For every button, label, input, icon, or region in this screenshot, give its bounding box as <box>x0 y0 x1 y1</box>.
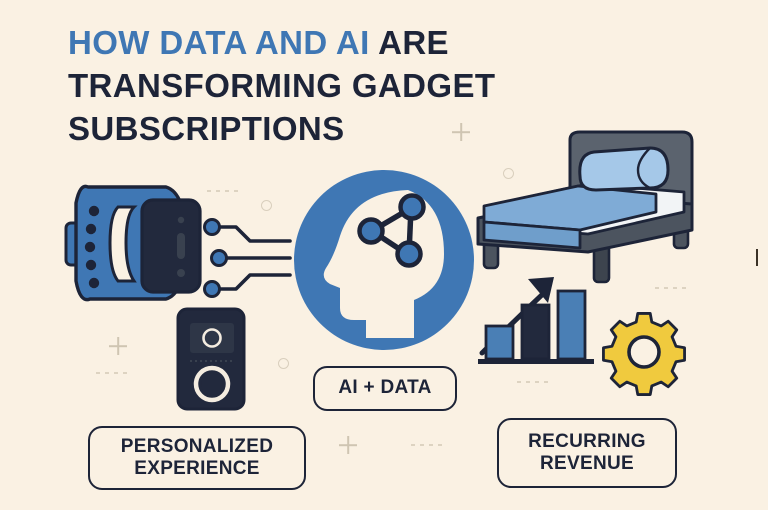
label-personalized-experience[interactable]: Personalized Experience <box>88 426 306 490</box>
infographic-canvas: HOW DATA AND AI ARE TRANSFORMING GADGET … <box>0 0 768 510</box>
dash-decoration-icon <box>655 287 686 289</box>
dash-decoration-icon <box>207 190 238 192</box>
label-ai-plus-data[interactable]: AI + Data <box>313 366 457 411</box>
title-line2: TRANSFORMING GADGET <box>68 67 495 104</box>
title-line1-rest: ARE <box>378 24 449 61</box>
dash-decoration-icon <box>517 381 548 383</box>
smart-doorbell-icon <box>172 305 258 413</box>
title-accent: HOW DATA AND AI <box>68 24 370 61</box>
ring-decoration-icon <box>503 168 514 179</box>
plus-decoration-icon <box>452 123 470 141</box>
plus-decoration-icon <box>339 436 357 454</box>
ring-decoration-icon <box>261 200 272 211</box>
smartwatch-icon <box>58 165 208 320</box>
title-line3: SUBSCRIPTIONS <box>68 110 345 147</box>
edge-mark <box>756 249 758 266</box>
ring-decoration-icon <box>278 358 289 369</box>
label-recurring-revenue[interactable]: Recurring Revenue <box>497 418 677 488</box>
circuit-traces-icon <box>198 215 294 301</box>
plus-decoration-icon <box>109 337 127 355</box>
dash-decoration-icon <box>96 372 127 374</box>
ai-brain-head-icon <box>292 168 476 352</box>
growth-bar-chart-icon <box>478 265 596 371</box>
dash-decoration-icon <box>411 444 442 446</box>
gear-icon <box>598 310 690 398</box>
smart-bed-icon <box>470 126 698 288</box>
